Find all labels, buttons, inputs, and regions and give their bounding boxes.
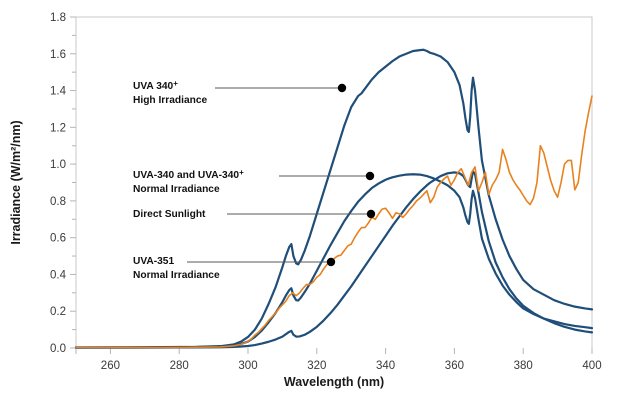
x-axis-tick-label: 260 [101, 360, 120, 372]
x-axis-tick-label: 400 [582, 360, 601, 372]
y-axis-tick-label: 0.4 [50, 269, 67, 281]
y-axis-tick-label: 0.8 [50, 196, 66, 208]
y-axis-tick-label: 1.2 [50, 122, 66, 134]
x-axis-title: Wavelength (nm) [284, 375, 384, 389]
y-axis-tick-label: 1.8 [50, 12, 66, 24]
annotation-label-line1: UVA 340+ [133, 79, 178, 92]
y-axis-tick-label: 0.0 [50, 343, 66, 355]
annotation-label-line2: Normal Irradiance [133, 184, 220, 195]
annotation-label-line2: High Irradiance [133, 95, 207, 106]
y-axis-title: Irradiance (W/m²/nm) [9, 120, 23, 244]
annotation-label-line1: UVA-340 and UVA-340+ [133, 168, 244, 181]
annotation-marker-dot [366, 172, 374, 180]
x-axis-tick-label: 320 [307, 360, 326, 372]
annotation-label-line1: Direct Sunlight [133, 209, 206, 220]
annotation-marker-dot [338, 84, 346, 92]
x-axis-tick-label: 340 [376, 360, 395, 372]
annotation-label-line2: Normal Irradiance [133, 270, 220, 281]
annotation-marker-dot [327, 258, 335, 266]
y-axis-tick-label: 0.6 [50, 233, 66, 245]
x-axis-tick-label: 300 [238, 360, 257, 372]
y-axis-tick-label: 1.0 [50, 159, 66, 171]
annotation-marker-dot [367, 210, 375, 218]
y-axis-tick-label: 1.6 [50, 49, 66, 61]
x-axis-tick-label: 360 [445, 360, 464, 372]
annotation-label-line1: UVA-351 [133, 256, 174, 267]
x-axis-tick-label: 380 [514, 360, 533, 372]
chart-canvas: 0.00.20.40.60.81.01.21.41.61.82602803003… [0, 0, 619, 406]
y-axis-tick-label: 0.2 [50, 306, 66, 318]
y-axis-tick-label: 1.4 [50, 86, 67, 98]
x-axis-tick-label: 280 [170, 360, 189, 372]
irradiance-spectral-chart: 0.00.20.40.60.81.01.21.41.61.82602803003… [0, 0, 619, 406]
